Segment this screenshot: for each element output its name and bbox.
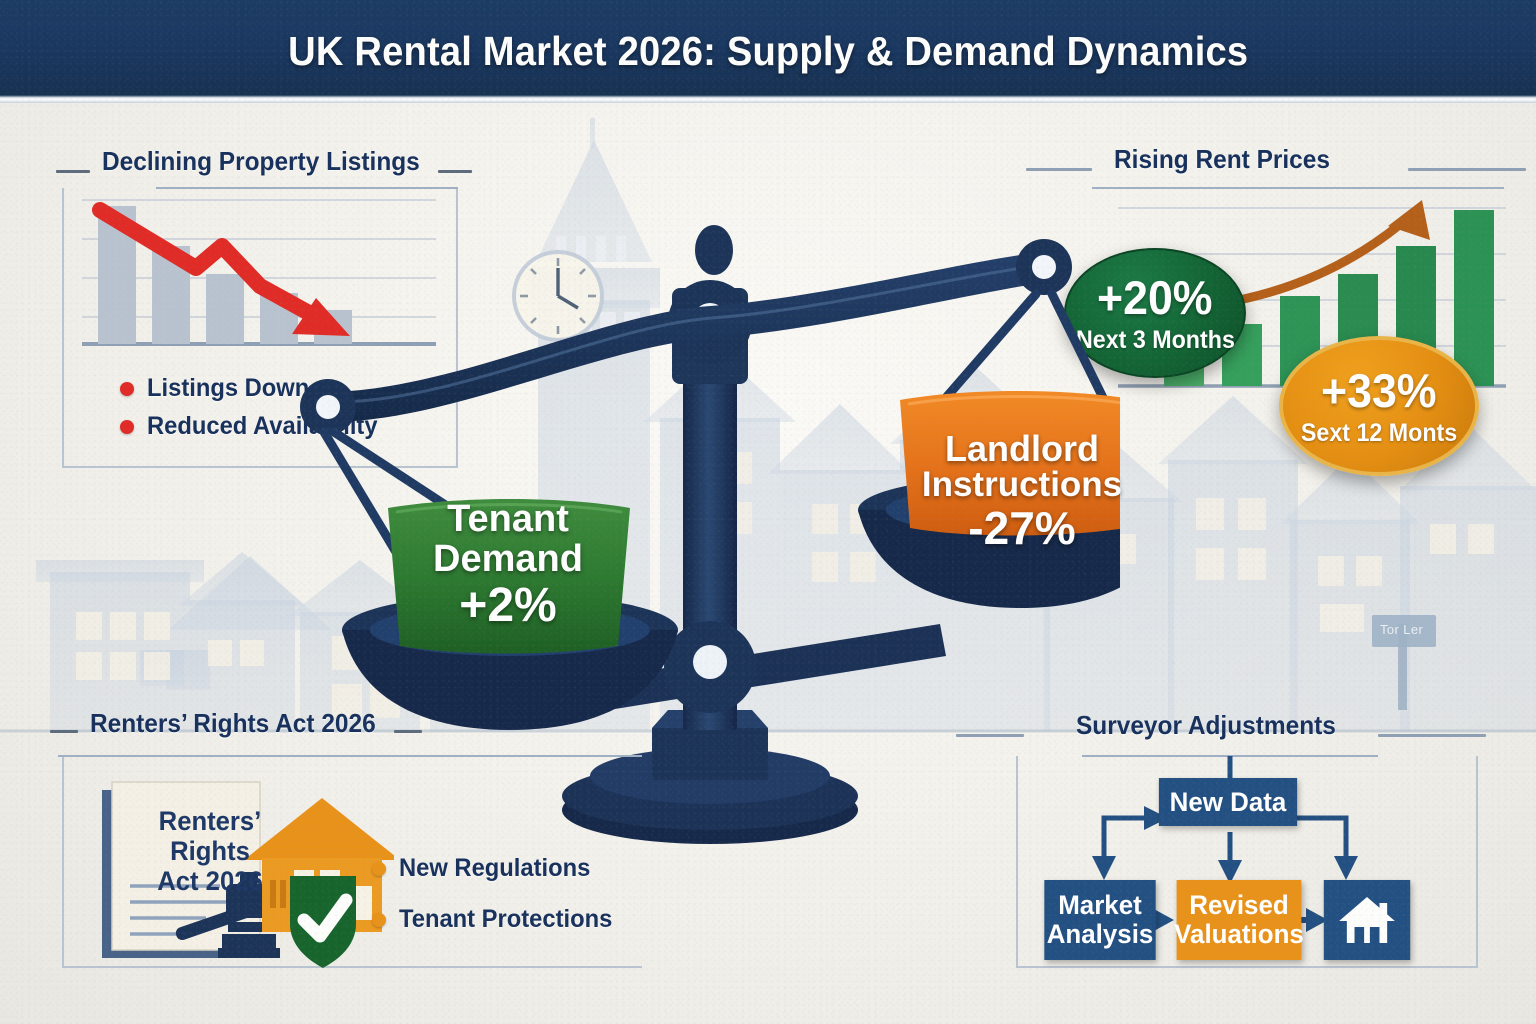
left-pan-line1: Tenant [378,500,638,540]
right-pan-line1: Landlord [896,430,1148,467]
panel-top-rule [58,755,642,757]
panel-surveyor-adjustments: Surveyor Adjustments N [1016,756,1478,968]
document-line-3: Act 2026 [115,866,305,896]
flow-box-market-analysis[interactable]: Market Analysis [1044,880,1155,960]
left-pan-value: +2% [378,581,638,631]
flow-box-new-data[interactable]: New Data [1159,778,1297,826]
panel-title-surveyor-adjustments: Surveyor Adjustments [1076,710,1336,741]
bullet-dot-icon [372,913,386,927]
page-title: UK Rental Market 2026: Supply & Demand D… [288,28,1248,75]
title-dash-left [956,734,1024,737]
title-dash-left [56,170,90,173]
panel-title-declining-listings: Declining Property Listings [102,146,420,177]
title-dash-right [1408,168,1526,171]
flow-box-revised-valuations[interactable]: Revised Valuations [1177,880,1302,960]
title-dash-right [1378,734,1486,737]
header-bar: UK Rental Market 2026: Supply & Demand D… [0,0,1536,103]
right-pan-line2: Instructions [896,467,1148,503]
flow-box-label-line1: Market [1058,891,1142,920]
bullet-label: Listings Down [147,374,309,403]
panel-title-renters-rights: Renters’ Rights Act 2026 [90,708,376,739]
bullet-dot-icon [372,862,386,876]
panel-top-rule [156,187,458,189]
bullet-new-regulations: New Regulations [372,854,624,883]
header-divider [0,95,1536,103]
infographic-canvas: Tor Ler Declining Property Listings [0,0,1536,1024]
right-pan-value: -27% [896,505,1148,553]
badge-value: +33% [1321,367,1436,414]
bullet-label: New Regulations [399,854,590,883]
panel-top-rule [1092,187,1504,189]
bullet-tenant-protections: Tenant Protections [372,905,624,934]
bullet-label: Tenant Protections [399,905,612,934]
flow-box-label-line2: Valuations [1174,920,1304,949]
badge-next-12-months: +33% Sext 12 Monts [1279,336,1479,476]
badge-caption: Sext 12 Monts [1301,421,1457,446]
title-dash-right [394,730,422,733]
flow-box-label-line2: Analysis [1047,920,1154,949]
left-pan-line2: Demand [378,540,638,580]
right-pan-label: Landlord Instructions -27% [896,430,1148,553]
flow-box-label-line1: Revised [1189,891,1288,920]
bullet-dot-icon [120,382,134,396]
renters-rights-bullets: New Regulations Tenant Protections [372,854,624,943]
panel-renters-rights: Renters’ Rights Act 2026 [62,756,642,968]
to-let-sign-label: Tor Ler [1380,622,1423,637]
left-pan-label: Tenant Demand +2% [378,500,638,631]
title-dash-left [50,730,78,733]
panel-title-rising-rents: Rising Rent Prices [1114,144,1330,175]
document-heading: Renters’ Rights Act 2026 [115,806,305,897]
house-icon [1337,895,1397,945]
document-line-2: Rights [115,836,305,866]
title-dash-left [1026,168,1092,171]
document-line-1: Renters’ [115,806,305,836]
flow-box-house[interactable] [1324,880,1410,960]
bullet-dot-icon [120,420,134,434]
flow-box-label: New Data [1170,788,1287,817]
title-dash-right [438,170,472,173]
